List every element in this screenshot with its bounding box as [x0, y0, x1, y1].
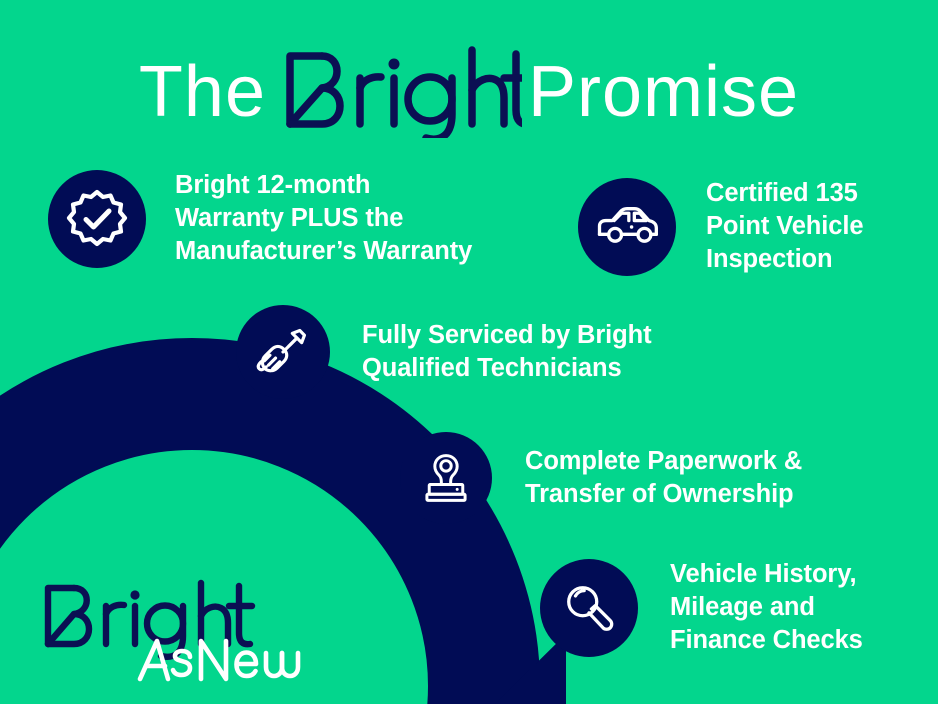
magnifying-glass-icon: [561, 580, 617, 636]
brand-logo: [40, 578, 302, 682]
bright-promise-poster: The: [0, 0, 938, 704]
promise-icon-badge-warranty: [48, 170, 146, 268]
promise-icon-badge-checks: [540, 559, 638, 657]
promise-label-checks: Vehicle History, Mileage and Finance Che…: [670, 558, 863, 657]
headline-bright-wordmark: [280, 42, 522, 138]
promise-item-inspection: Certified 135 Point Vehicle Inspection: [578, 177, 863, 276]
promise-item-checks: Vehicle History, Mileage and Finance Che…: [540, 558, 863, 657]
promise-item-warranty: Bright 12-month Warranty PLUS the Manufa…: [48, 169, 472, 268]
promise-icon-badge-inspection: [578, 178, 676, 276]
promise-label-warranty: Bright 12-month Warranty PLUS the Manufa…: [175, 169, 472, 268]
brand-logo-primary-wordmark: [48, 583, 252, 657]
car-side-icon: [594, 203, 660, 251]
headline-suffix: Promise: [528, 52, 799, 132]
promise-icon-badge-serviced: [236, 305, 330, 399]
promise-label-inspection: Certified 135 Point Vehicle Inspection: [706, 177, 863, 276]
rubber-stamp-icon: [419, 451, 473, 505]
page-title: The: [0, 42, 938, 128]
brand-logo-secondary-wordmark: [140, 641, 298, 679]
hand-wrench-icon: [255, 324, 311, 380]
promise-icon-badge-paperwork: [400, 432, 492, 524]
verified-badge-check-icon: [65, 187, 129, 251]
headline-prefix: The: [139, 52, 266, 132]
promise-label-serviced: Fully Serviced by Bright Qualified Techn…: [362, 319, 652, 385]
promise-item-paperwork: Complete Paperwork & Transfer of Ownersh…: [400, 432, 802, 524]
promise-item-serviced: Fully Serviced by Bright Qualified Techn…: [236, 305, 652, 399]
promise-label-paperwork: Complete Paperwork & Transfer of Ownersh…: [525, 445, 802, 511]
